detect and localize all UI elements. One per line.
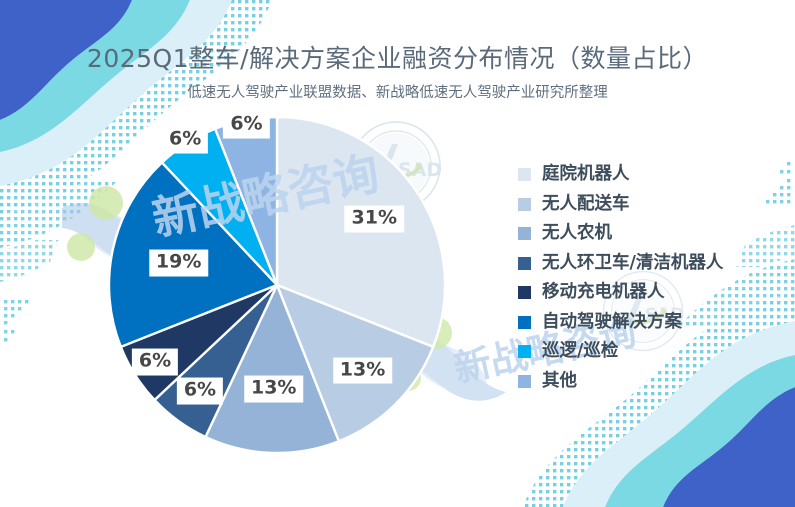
legend-item[interactable]: 自动驾驶解决方案 [518,308,783,338]
legend-swatch-icon [518,345,531,358]
legend-swatch-icon [518,375,531,388]
pie-data-label: 13% [244,376,303,403]
pie-data-label: 31% [345,205,404,232]
legend-item-label: 移动充电机器人 [542,284,665,302]
pie-slice-group [109,117,445,453]
legend-item-label: 无人环卫车/清洁机器人 [542,255,723,273]
legend-item-label: 无人配送车 [542,196,630,214]
legend-swatch-icon [518,316,531,329]
legend-swatch-icon [518,286,531,299]
legend-item[interactable]: 无人环卫车/清洁机器人 [518,249,783,279]
chart-legend: 庭院机器人无人配送车无人农机无人环卫车/清洁机器人移动充电机器人自动驾驶解决方案… [518,160,783,396]
legend-item[interactable]: 庭院机器人 [518,160,783,190]
legend-swatch-icon [518,257,531,270]
pie-data-label: 6% [177,378,223,405]
pie-data-label: 6% [132,349,178,376]
legend-swatch-icon [518,168,531,181]
pie-data-label: 6% [223,111,269,138]
legend-item-label: 自动驾驶解决方案 [542,314,682,332]
legend-item[interactable]: 无人农机 [518,219,783,249]
legend-item[interactable]: 移动充电机器人 [518,278,783,308]
legend-item-label: 庭院机器人 [542,166,630,184]
pie-data-label: 13% [333,357,392,384]
legend-item-label: 其他 [542,373,577,391]
legend-item-label: 无人农机 [542,225,612,243]
legend-swatch-icon [518,198,531,211]
legend-item[interactable]: 巡逻/巡检 [518,337,783,367]
pie-data-label: 19% [149,250,208,277]
legend-item[interactable]: 其他 [518,367,783,397]
legend-item-label: 巡逻/巡检 [542,343,618,361]
chart-canvas: 2025Q1整车/解决方案企业融资分布情况（数量占比） 低速无人驾驶产业联盟数据… [0,0,795,507]
pie-data-label: 6% [162,127,208,154]
legend-item[interactable]: 无人配送车 [518,190,783,220]
legend-swatch-icon [518,227,531,240]
